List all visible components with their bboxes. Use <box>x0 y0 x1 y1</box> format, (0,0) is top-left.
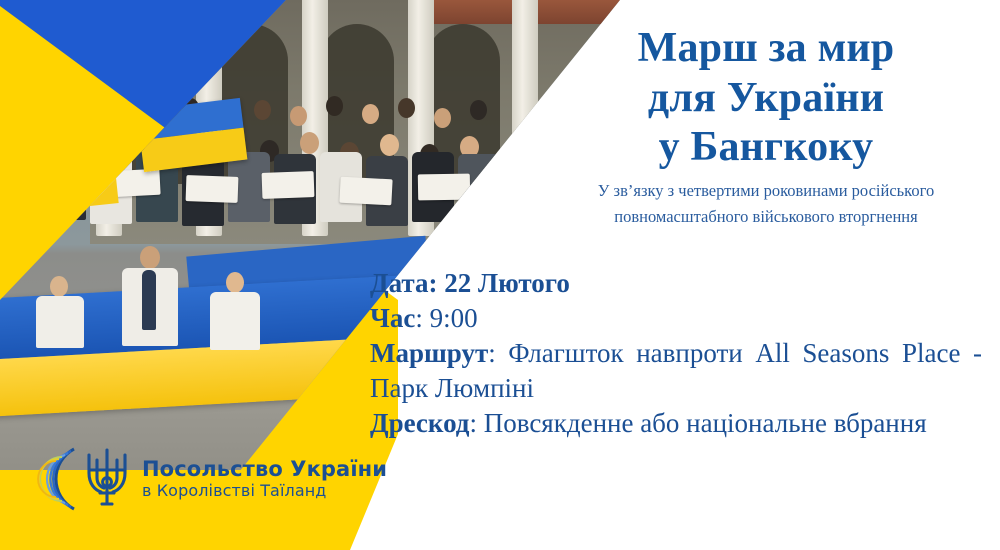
detail-label-time: Час <box>370 303 415 333</box>
page-subtitle: У зв’язку з четвертими роковинами російс… <box>535 178 997 229</box>
detail-label-route: Маршрут <box>370 338 488 368</box>
embassy-logo-text: Посольство України в Королівстві Таїланд <box>142 458 387 499</box>
detail-value-dresscode: : Повсякденне або національне вбрання <box>469 408 926 438</box>
detail-value-date: 22 Лютого <box>437 268 569 298</box>
subtitle-line-1: У зв’язку з четвертими роковинами російс… <box>535 178 997 204</box>
poster-canvas: Марш за мир для України у Бангкоку У зв’… <box>0 0 1000 550</box>
radiating-arc-icon <box>34 443 80 515</box>
embassy-name-line-2: в Королівстві Таїланд <box>142 482 387 500</box>
detail-row-route: Маршрут: Флагшток навпроти All Seasons P… <box>370 336 982 406</box>
detail-row-time: Час: 9:00 <box>370 301 982 336</box>
embassy-name-line-1: Посольство України <box>142 458 387 482</box>
event-details: Дата: 22 Лютого Час: 9:00 Маршрут: Флагш… <box>370 266 982 441</box>
embassy-logo: Посольство України в Королівстві Таїланд <box>34 440 334 518</box>
detail-row-dresscode: Дрескод: Повсякденне або національне вбр… <box>370 406 982 441</box>
detail-label-date: Дата: <box>370 268 437 298</box>
detail-value-time: : 9:00 <box>415 303 477 333</box>
detail-label-dresscode: Дрескод <box>370 408 469 438</box>
page-title: Марш за мир для України у Бангкоку <box>540 24 992 173</box>
detail-row-date: Дата: 22 Лютого <box>370 266 982 301</box>
ukrainian-trident-icon <box>84 446 130 512</box>
subtitle-line-2: повномасштабного військового вторгнення <box>535 204 997 230</box>
title-line-1: Марш за мир <box>540 24 992 74</box>
title-line-2: для України <box>540 74 992 124</box>
title-line-3: у Бангкоку <box>540 123 992 173</box>
